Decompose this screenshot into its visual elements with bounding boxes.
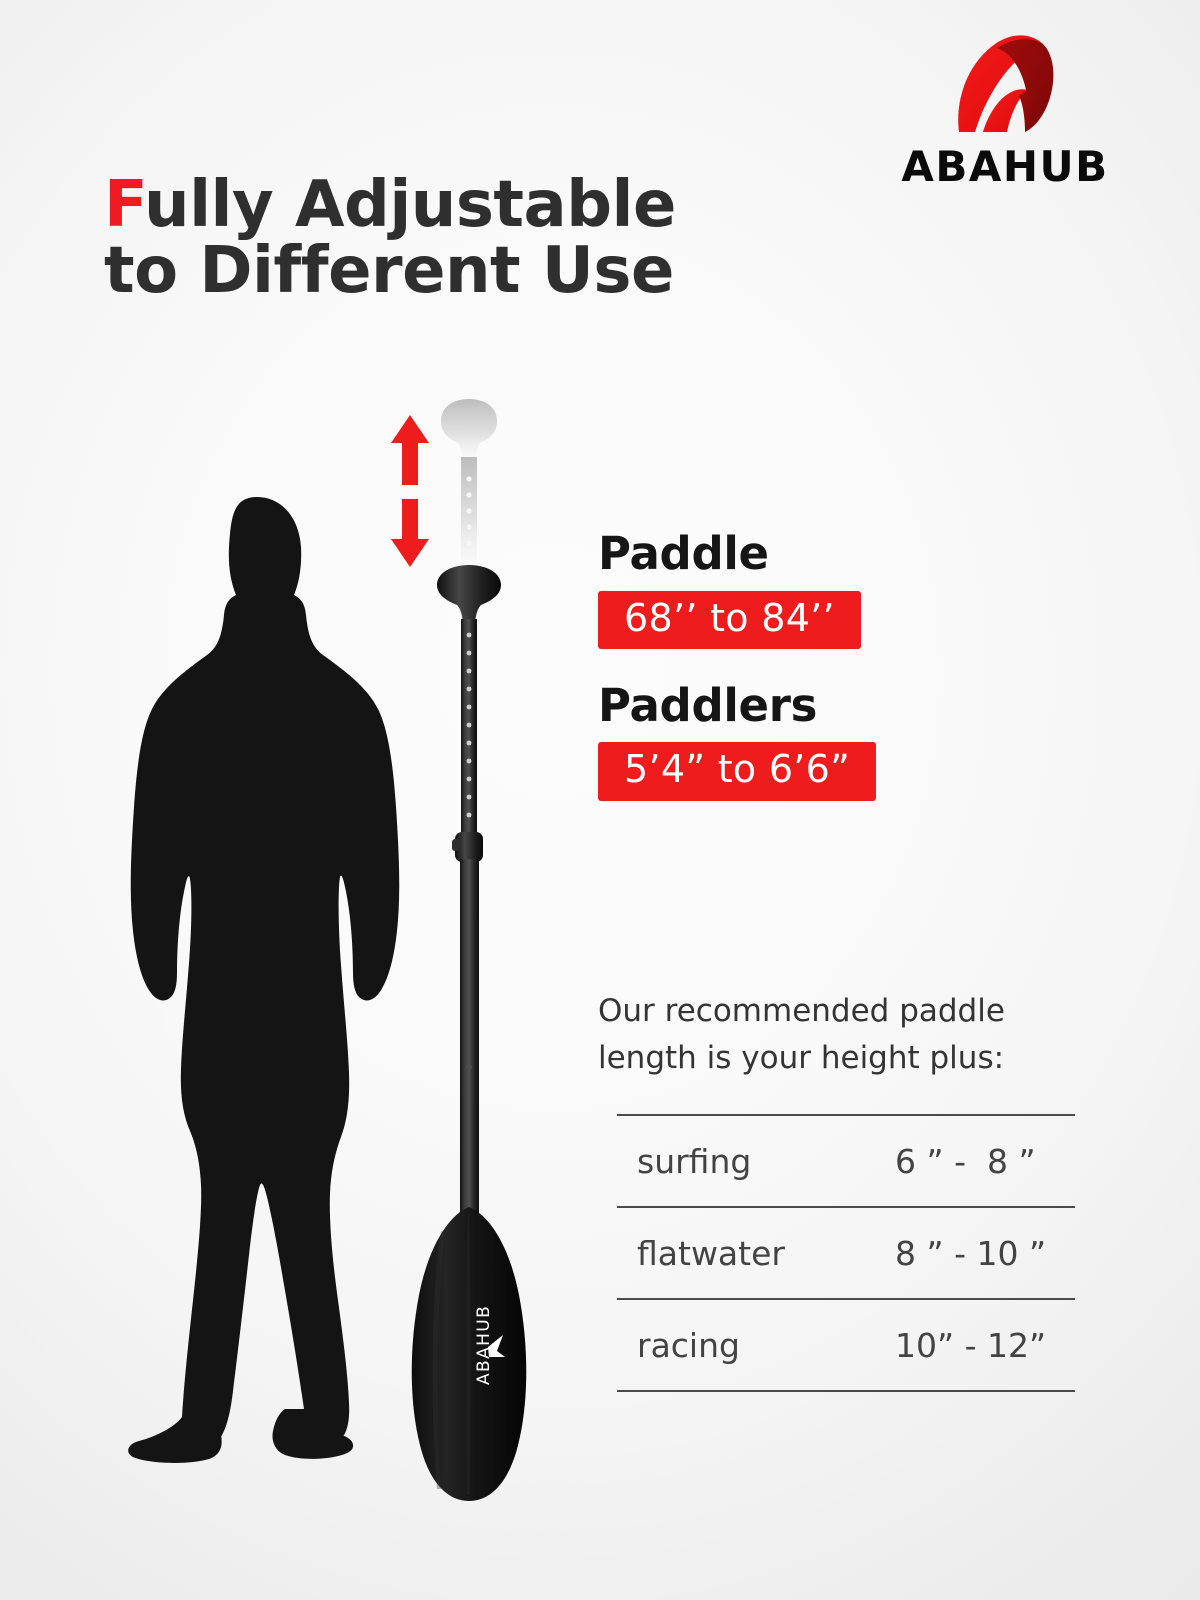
down-arrow-icon (391, 499, 429, 567)
headline-accent-letter: F (104, 168, 144, 242)
table-row: flatwater 8 ” - 10 ” (617, 1207, 1075, 1299)
callout-paddle: Paddle 68’’ to 84’’ (598, 530, 1098, 649)
shaft-rivet (466, 1064, 472, 1070)
recommendation-intro: Our recommended paddle length is your he… (598, 988, 1088, 1082)
paddler-silhouette (105, 495, 415, 1480)
paddle-t-handle (437, 565, 501, 623)
table-row: racing 10” - 12” (617, 1299, 1075, 1391)
headline-rest: ully Adjustable to Different Use (104, 168, 676, 307)
callout-paddlers: Paddlers 5’4” to 6’6” (598, 682, 1098, 801)
callouts-column: Paddle 68’’ to 84’’ Paddlers 5’4” to 6’6… (598, 530, 1098, 801)
up-arrow-icon (391, 415, 429, 485)
callout-paddlers-title: Paddlers (598, 682, 1098, 730)
callout-paddle-badge: 68’’ to 84’’ (598, 591, 861, 649)
row-activity: surfing (617, 1115, 887, 1207)
cam-lock-clamp (452, 832, 483, 862)
brand-logo: ABAHUB (880, 30, 1130, 205)
abahub-wave-mark-icon (935, 30, 1075, 135)
row-range: 6 ” - 8 ” (887, 1115, 1075, 1207)
row-range: 10” - 12” (887, 1299, 1075, 1391)
infographic-page: Fully Adjustable to Different Use (0, 0, 1200, 1600)
paddle-blade: ABAHUB (412, 1207, 527, 1501)
table-row: surfing 6 ” - 8 ” (617, 1115, 1075, 1207)
callout-paddlers-badge: 5’4” to 6’6” (598, 742, 876, 800)
lower-shaft (460, 859, 479, 1213)
row-range: 8 ” - 10 ” (887, 1207, 1075, 1299)
recommendation-block: Our recommended paddle length is your he… (598, 988, 1088, 1392)
callout-paddle-title: Paddle (598, 530, 1098, 578)
sup-paddle: ABAHUB (385, 395, 585, 1505)
page-title: Fully Adjustable to Different Use (104, 108, 824, 304)
row-activity: racing (617, 1299, 887, 1391)
row-activity: flatwater (617, 1207, 887, 1299)
extended-handle-ghost (441, 399, 497, 569)
recommendation-table: surfing 6 ” - 8 ” flatwater 8 ” - 10 ” r… (617, 1114, 1075, 1392)
brand-wordmark: ABAHUB (880, 142, 1130, 191)
